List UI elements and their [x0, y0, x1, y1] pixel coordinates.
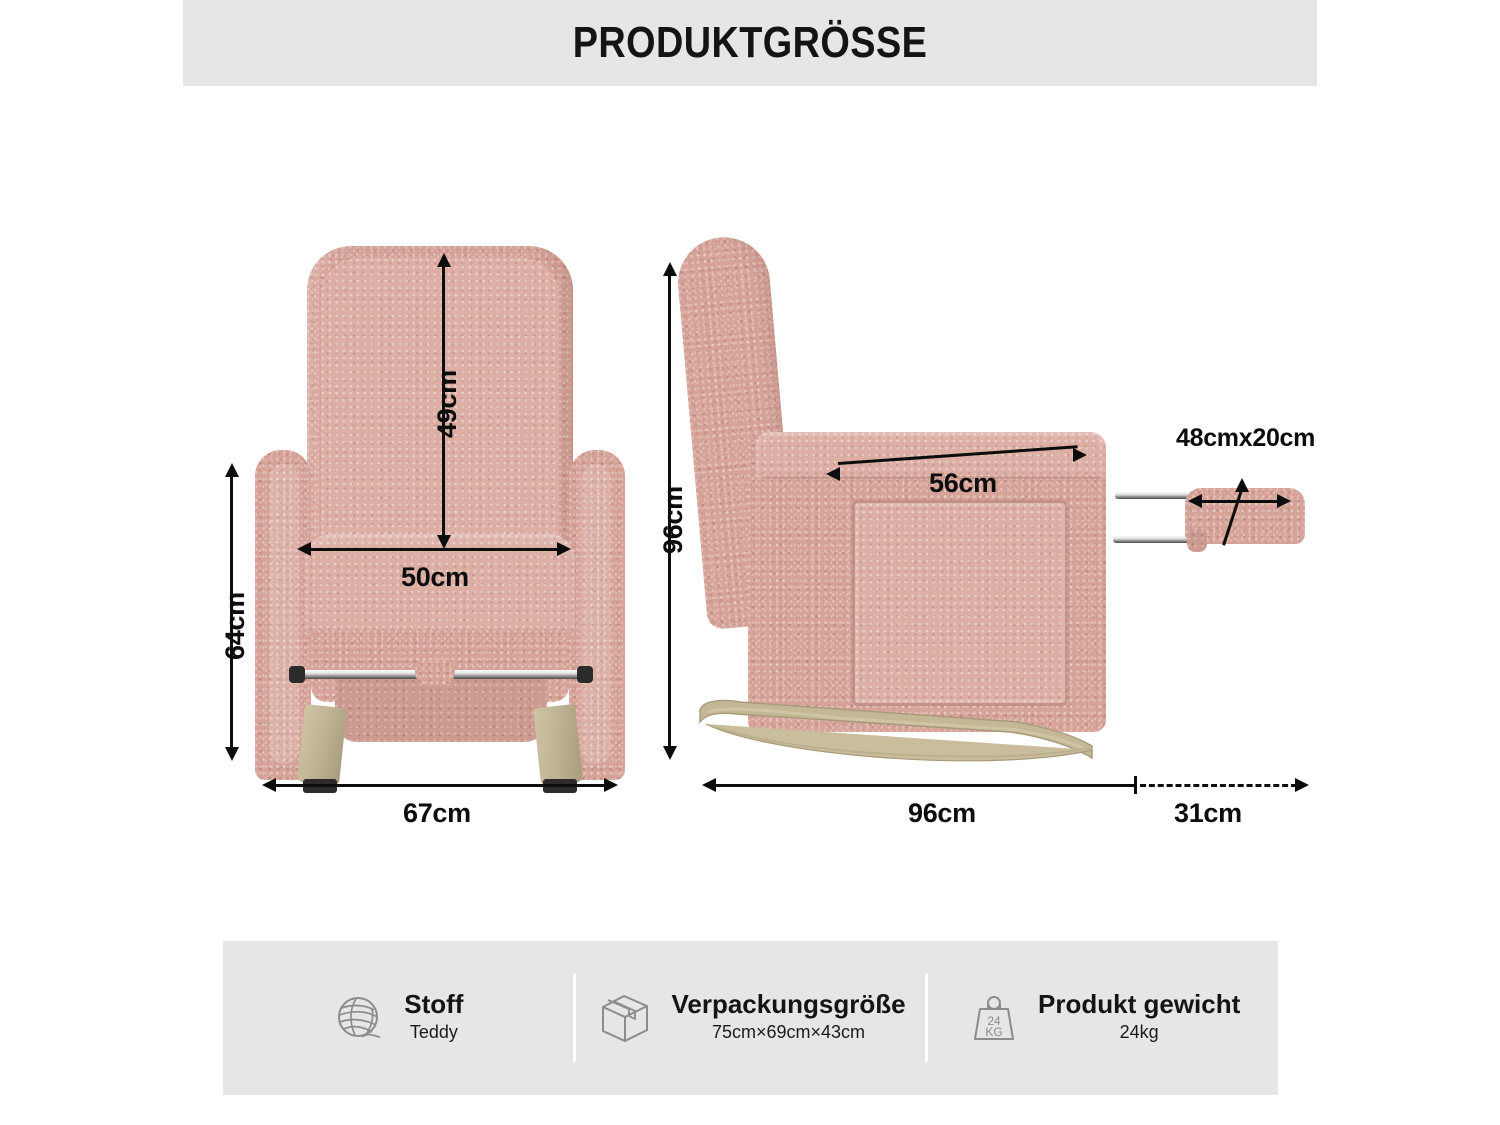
- chrome-bar-knob: [415, 660, 455, 686]
- dim-56-label: 56cm: [929, 468, 997, 499]
- dim-96h-arrow-bottom: [663, 746, 677, 760]
- dim-96d-arrow-left: [702, 778, 716, 792]
- dim-64-arrow-top: [225, 463, 239, 477]
- dim-48-line: [1200, 500, 1280, 503]
- dim-96d-tick: [1134, 776, 1137, 794]
- package-title: Verpackungsgröße: [671, 990, 905, 1020]
- armrest-highlight-left: [269, 464, 299, 764]
- front-view-chair: [255, 246, 625, 766]
- wood-runner-left: [297, 704, 347, 786]
- dim-56-arrow-left: [826, 467, 840, 481]
- dim-49-arrow-top: [437, 253, 451, 267]
- info-cell-weight: 24 KG Produkt gewicht 24kg: [928, 941, 1278, 1095]
- info-cell-fabric: Stoff Teddy: [223, 941, 573, 1095]
- dim-50-arrow-right: [557, 542, 571, 556]
- armrest-highlight-right: [581, 464, 611, 764]
- dim-50-arrow-left: [297, 542, 311, 556]
- footrest-rail-upper: [1115, 492, 1189, 499]
- dim-49-label: 49cm: [432, 370, 463, 438]
- dim-48-arrow-right: [1277, 494, 1291, 508]
- package-value: 75cm×69cm×43cm: [712, 1019, 865, 1046]
- dim-49-arrow-bottom: [437, 535, 451, 549]
- dim-50-line: [310, 548, 558, 551]
- weight-title: Produkt gewicht: [1038, 990, 1240, 1020]
- dim-31-dashed-line: [1140, 784, 1297, 787]
- footrest-hinge-tab: [1187, 530, 1207, 552]
- product-diagram-stage: 49cm 50cm 64cm 67cm 96cm 56cm: [0, 86, 1500, 941]
- dim-31-label: 31cm: [1174, 798, 1242, 829]
- dim-64-arrow-bottom: [225, 747, 239, 761]
- package-box-icon: [595, 989, 655, 1047]
- page-title: PRODUKTGRÖSSE: [262, 0, 1237, 86]
- dim-67-arrow-right: [604, 778, 618, 792]
- fabric-title: Stoff: [404, 990, 463, 1020]
- dim-20-arrow-top: [1235, 478, 1249, 492]
- side-view-chair: [700, 236, 1130, 776]
- dim-64-label: 64cm: [220, 592, 251, 660]
- weight-value: 24kg: [1120, 1019, 1159, 1046]
- dim-96d-label: 96cm: [908, 798, 976, 829]
- weight-icon: 24 KG: [966, 989, 1022, 1047]
- wood-runner-right: [533, 704, 583, 786]
- wood-rocker-runner: [688, 666, 1138, 776]
- dim-67-label: 67cm: [403, 798, 471, 829]
- dim-31-arrow-right: [1295, 778, 1309, 792]
- dim-96d-line: [715, 784, 1135, 787]
- info-cell-package: Verpackungsgröße 75cm×69cm×43cm: [576, 941, 926, 1095]
- dim-67-arrow-left: [262, 778, 276, 792]
- product-info-bar: Stoff Teddy Verpackungsgröße 75cm×69cm×4…: [223, 941, 1278, 1095]
- header-band: PRODUKTGRÖSSE: [183, 0, 1317, 86]
- dim-48-arrow-left: [1188, 494, 1202, 508]
- chrome-bar-cap-left: [289, 666, 305, 683]
- chrome-bar-cap-right: [577, 666, 593, 683]
- dim-56-arrow-right: [1073, 448, 1087, 462]
- weight-icon-text-bottom: KG: [985, 1025, 1002, 1039]
- dim-96h-arrow-top: [663, 262, 677, 276]
- dim-48x20-label: 48cmx20cm: [1176, 424, 1315, 453]
- dim-50-label: 50cm: [401, 562, 469, 593]
- dim-96h-label: 96cm: [658, 486, 689, 554]
- yarn-ball-icon: [332, 990, 388, 1046]
- dim-67-line: [275, 784, 605, 787]
- fabric-value: Teddy: [410, 1019, 458, 1046]
